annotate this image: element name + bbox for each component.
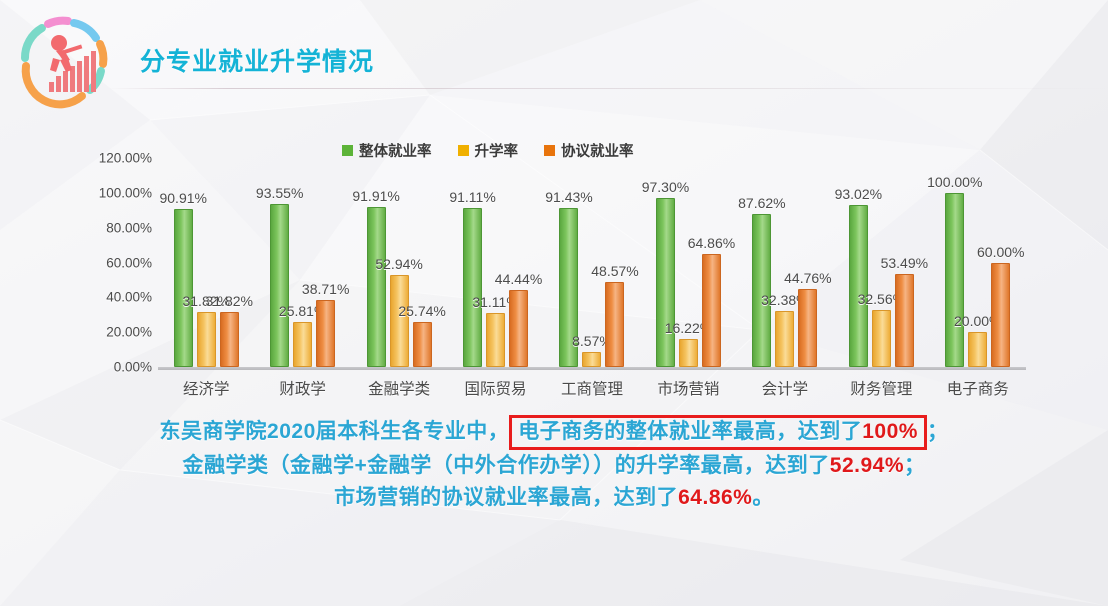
- bar-contract[interactable]: 38.71%: [316, 300, 335, 367]
- summary-line1-value: 100%: [862, 420, 918, 443]
- bar-contract[interactable]: 25.74%: [413, 322, 432, 367]
- bar-group: 93.55%25.81%38.71%财政学: [254, 204, 350, 367]
- x-axis-category-label: 财务管理: [850, 377, 912, 399]
- y-tick-label: 20.00%: [106, 325, 152, 340]
- bar-further-study[interactable]: 31.82%: [197, 312, 216, 367]
- bar-overall[interactable]: 93.55%: [270, 204, 289, 367]
- summary-line3-value: 64.86%: [678, 486, 752, 509]
- bar-value-label: 87.62%: [738, 195, 785, 211]
- bar-contract[interactable]: 48.57%: [605, 282, 624, 367]
- bar-contract[interactable]: 44.44%: [509, 290, 528, 367]
- summary-line2-value: 52.94%: [830, 454, 904, 477]
- y-tick-label: 120.00%: [99, 151, 152, 166]
- bar-contract[interactable]: 31.82%: [220, 312, 239, 367]
- y-tick-label: 0.00%: [114, 360, 152, 375]
- bar-further-study[interactable]: 52.94%: [390, 275, 409, 367]
- bar-value-label: 44.76%: [784, 270, 831, 286]
- summary-line1-prefix: 东吴商学院2020届本科生各专业中，: [160, 420, 510, 443]
- bar-value-label: 60.00%: [977, 244, 1024, 260]
- bar-group: 87.62%32.38%44.76%会计学: [737, 214, 833, 367]
- legend-swatch-further-study: [458, 145, 469, 156]
- bar-group: 97.30%16.22%64.86%市场营销: [640, 198, 736, 367]
- bar-value-label: 44.44%: [495, 271, 542, 287]
- bar-group: 91.11%31.11%44.44%国际贸易: [447, 208, 543, 367]
- summary-text: 东吴商学院2020届本科生各专业中，电子商务的整体就业率最高，达到了100%； …: [0, 415, 1108, 514]
- bar-value-label: 100.00%: [927, 174, 982, 190]
- bar-overall[interactable]: 93.02%: [849, 205, 868, 367]
- bar-further-study[interactable]: 31.11%: [486, 313, 505, 367]
- bar-further-study[interactable]: 25.81%: [293, 322, 312, 367]
- bar-value-label: 90.91%: [159, 190, 206, 206]
- x-axis-category-label: 工商管理: [561, 377, 623, 399]
- bar-value-label: 91.11%: [449, 189, 495, 205]
- plot-area: 120.00%100.00%80.00%60.00%40.00%20.00%0.…: [158, 158, 1026, 370]
- bar-further-study[interactable]: 32.56%: [872, 310, 891, 367]
- page-header: 分专业就业升学情况: [0, 0, 1108, 112]
- summary-line-2: 金融学类（金融学+金融学（中外合作办学））的升学率最高，达到了52.94%；: [0, 450, 1108, 482]
- bar-group: 100.00%20.00%60.00%电子商务: [930, 193, 1026, 367]
- bar-value-label: 97.30%: [642, 179, 689, 195]
- bar-overall[interactable]: 97.30%: [656, 198, 675, 367]
- stairs-climbing-person-logo: [12, 14, 120, 110]
- summary-line-3: 市场营销的协议就业率最高，达到了64.86%。: [0, 482, 1108, 514]
- summary-line2-text: 金融学类（金融学+金融学（中外合作办学））的升学率最高，达到了: [183, 454, 830, 477]
- y-tick-label: 80.00%: [106, 220, 152, 235]
- x-axis-category-label: 财政学: [279, 377, 326, 399]
- bar-value-label: 31.82%: [205, 293, 252, 309]
- summary-line-1: 东吴商学院2020届本科生各专业中，电子商务的整体就业率最高，达到了100%；: [0, 415, 1108, 450]
- bar-overall[interactable]: 90.91%: [174, 209, 193, 367]
- bar-value-label: 25.74%: [398, 303, 445, 319]
- bar-further-study[interactable]: 20.00%: [968, 332, 987, 367]
- x-axis-category-label: 经济学: [183, 377, 230, 399]
- summary-line1-boxed-text: 电子商务的整体就业率最高，达到了: [518, 420, 862, 443]
- summary-line3-text: 市场营销的协议就业率最高，达到了: [334, 486, 678, 509]
- legend-swatch-overall: [342, 145, 353, 156]
- bar-value-label: 64.86%: [688, 235, 735, 251]
- bar-contract[interactable]: 44.76%: [798, 289, 817, 367]
- bar-overall[interactable]: 100.00%: [945, 193, 964, 367]
- x-axis-category-label: 会计学: [762, 377, 809, 399]
- employment-bar-chart: 整体就业率 升学率 协议就业率 120.00%100.00%80.00%60.0…: [96, 140, 1026, 395]
- bar-further-study[interactable]: 32.38%: [775, 311, 794, 367]
- y-tick-label: 100.00%: [99, 185, 152, 200]
- bar-contract[interactable]: 64.86%: [702, 254, 721, 367]
- summary-highlight-box: 电子商务的整体就业率最高，达到了100%: [509, 415, 927, 450]
- bar-group: 91.91%52.94%25.74%金融学类: [351, 207, 447, 367]
- bar-overall[interactable]: 91.91%: [367, 207, 386, 367]
- bar-group: 91.43%8.57%48.57%工商管理: [544, 208, 640, 367]
- bar-contract[interactable]: 53.49%: [895, 274, 914, 367]
- y-tick-label: 40.00%: [106, 290, 152, 305]
- x-axis-baseline: [158, 367, 1026, 370]
- x-axis-category-label: 电子商务: [947, 377, 1009, 399]
- summary-line3-suffix: 。: [752, 486, 774, 509]
- title-divider: [108, 88, 1108, 89]
- x-axis-category-label: 国际贸易: [465, 377, 527, 399]
- bar-group: 90.91%31.82%31.82%经济学: [158, 209, 254, 367]
- bar-contract[interactable]: 60.00%: [991, 263, 1010, 368]
- bar-overall[interactable]: 91.11%: [463, 208, 482, 367]
- bar-value-label: 38.71%: [302, 281, 349, 297]
- bar-value-label: 93.02%: [835, 186, 882, 202]
- legend-swatch-contract: [544, 145, 555, 156]
- summary-line1-suffix: ；: [927, 420, 949, 443]
- x-axis-category-label: 市场营销: [657, 377, 719, 399]
- bar-value-label: 91.91%: [352, 188, 399, 204]
- bar-further-study[interactable]: 8.57%: [582, 352, 601, 367]
- bar-further-study[interactable]: 16.22%: [679, 339, 698, 367]
- bar-value-label: 48.57%: [591, 263, 638, 279]
- bar-value-label: 93.55%: [256, 185, 303, 201]
- bar-value-label: 53.49%: [881, 255, 928, 271]
- bar-value-label: 52.94%: [375, 256, 422, 272]
- bar-value-label: 91.43%: [545, 189, 592, 205]
- y-tick-label: 60.00%: [106, 255, 152, 270]
- page-title: 分专业就业升学情况: [140, 42, 374, 78]
- bar-group: 93.02%32.56%53.49%财务管理: [833, 205, 929, 367]
- summary-line2-suffix: ；: [904, 454, 926, 477]
- x-axis-category-label: 金融学类: [368, 377, 430, 399]
